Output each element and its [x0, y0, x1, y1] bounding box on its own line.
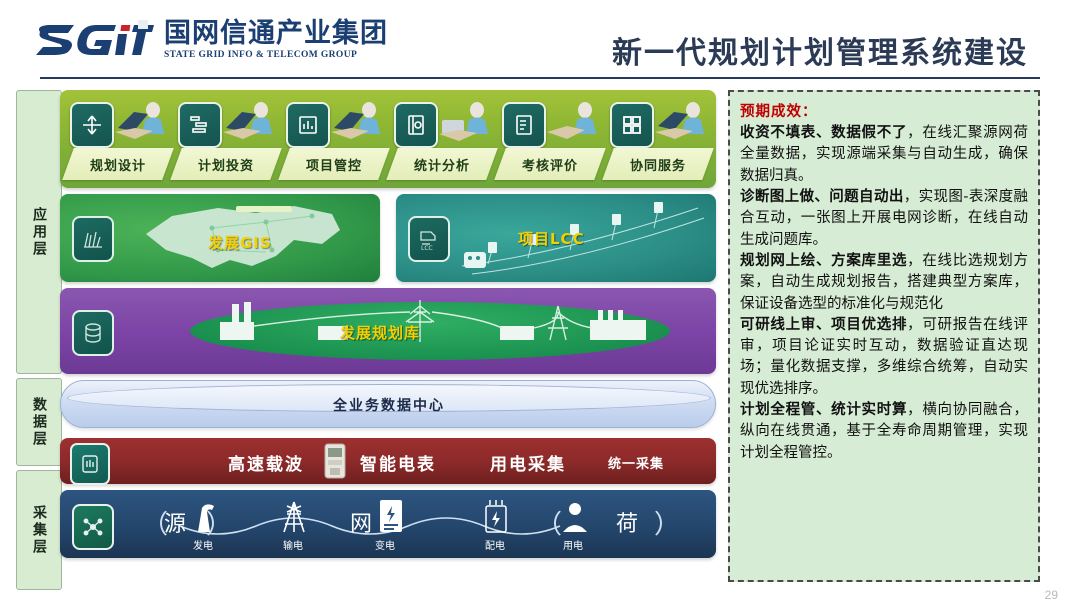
brand-text: 国网信通产业集团 STATE GRID INFO & TELECOM GROUP	[164, 20, 388, 60]
map-chart-icon	[72, 216, 114, 262]
power-chain-band[interactable]: （ 源 ） 发电 输电 网 变电	[60, 490, 716, 558]
header-divider	[40, 77, 1040, 79]
database-icon	[72, 310, 114, 356]
lcc-panel[interactable]: LCC 项目LCC	[396, 194, 716, 282]
bracket-close-2: ）	[654, 504, 680, 541]
panel-paragraph-bold: 可研线上审、项目优选排	[740, 317, 907, 333]
app-module-label-wrap: 统计分析	[386, 148, 498, 180]
person-computer-illustration	[652, 98, 710, 144]
brand-logo: 国网信通产业集团 STATE GRID INFO & TELECOM GROUP	[34, 20, 388, 60]
app-module-label-wrap: 项目管控	[278, 148, 390, 180]
chain-node-consumption[interactable]: 用电	[538, 498, 608, 552]
load-char: 荷	[616, 506, 638, 538]
app-module-label: 项目管控	[284, 148, 384, 180]
app-module-assessment[interactable]: 考核评价	[498, 98, 602, 182]
app-module-label-wrap: 规划设计	[62, 148, 174, 180]
brand-name-cn: 国网信通产业集团	[164, 20, 388, 48]
book-icon	[394, 102, 438, 148]
panel-paragraph: 收资不填表、数据假不了，在线汇聚源网荷全量数据，实现源端采集与自动生成，确保数据…	[740, 123, 1028, 187]
chain-node-transmission[interactable]: 输电	[258, 498, 328, 552]
app-module-planning-design[interactable]: 规划设计	[66, 98, 170, 182]
repository-title: 发展规划库	[340, 322, 420, 343]
person-computer-illustration	[436, 98, 494, 144]
chain-node-label: 输电	[258, 537, 328, 552]
brand-name-en: STATE GRID INFO & TELECOM GROUP	[164, 50, 388, 60]
gantt-chart-icon	[178, 102, 222, 148]
person-computer-illustration	[112, 98, 170, 144]
sidebar-layer-collection: 采集层	[16, 470, 62, 590]
expected-results-panel: 预期成效： 收资不填表、数据假不了，在线汇聚源网荷全量数据，实现源端采集与自动生…	[728, 90, 1040, 582]
architecture-diagram: 规划设计 计划投资	[60, 90, 716, 588]
chain-node-distribution[interactable]: 配电	[460, 498, 530, 552]
app-module-label: 协同服务	[608, 148, 708, 180]
app-module-label: 统计分析	[392, 148, 492, 180]
collection-item-label: 用电采集	[490, 450, 566, 475]
gis-panel[interactable]: 发展GIS	[60, 194, 380, 282]
smart-meter-illustration	[322, 442, 348, 480]
bar-chart-icon	[286, 102, 330, 148]
app-module-label: 计划投资	[176, 148, 276, 180]
person-computer-illustration	[328, 98, 386, 144]
app-module-label: 考核评价	[500, 148, 600, 180]
data-center-disc[interactable]: 全业务数据中心	[60, 380, 716, 428]
panel-paragraph: 可研线上审、项目优选排，可研报告在线评审，项目论证实时互动，数据验证直达现场；量…	[740, 315, 1028, 400]
data-center-label: 全业务数据中心	[61, 381, 717, 429]
chain-node-label: 用电	[538, 537, 608, 552]
app-module-plan-investment[interactable]: 计划投资	[174, 98, 278, 182]
network-node-icon	[70, 102, 114, 148]
lcc-icon: LCC	[408, 216, 450, 262]
chain-node-label: 配电	[460, 537, 530, 552]
collection-item-label: 统一采集	[608, 453, 664, 472]
page-title: 新一代规划计划管理系统建设	[612, 28, 1028, 72]
app-module-label: 规划设计	[68, 148, 168, 180]
panel-paragraph-bold: 诊断图上做、问题自动出	[740, 189, 904, 205]
collection-band[interactable]: 高速载波 智能电表 用电采集 统一采集	[60, 438, 716, 484]
lcc-title: 项目LCC	[518, 228, 585, 249]
page-number: 29	[1045, 588, 1058, 602]
chain-node-label: 变电	[350, 537, 420, 552]
panel-paragraph: 诊断图上做、问题自动出，实现图-表深度融合互动，一张图上开展电网诊断，在线自动生…	[740, 187, 1028, 251]
collection-item-label: 智能电表	[360, 450, 436, 475]
layer-sidebar: 应用层 数据层 采集层	[16, 90, 60, 588]
app-module-project-control[interactable]: 项目管控	[282, 98, 386, 182]
meter-icon	[70, 443, 110, 485]
person-computer-illustration	[220, 98, 278, 144]
sidebar-layer-label: 采集层	[29, 505, 49, 556]
grid-squares-icon	[610, 102, 654, 148]
document-pen-icon	[502, 102, 546, 148]
app-module-collab-service[interactable]: 协同服务	[606, 98, 710, 182]
sidebar-layer-application: 应用层	[16, 90, 62, 374]
chain-node-substation[interactable]: 变电	[350, 498, 420, 552]
collection-item-label: 高速载波	[228, 450, 304, 475]
repository-band[interactable]: 发展规划库	[60, 288, 716, 374]
application-band: 规划设计 计划投资	[60, 90, 716, 188]
app-module-label-wrap: 计划投资	[170, 148, 282, 180]
sidebar-layer-label: 应用层	[29, 207, 49, 258]
panel-paragraph-bold: 收资不填表、数据假不了	[740, 125, 907, 141]
panel-paragraph: 规划网上绘、方案库里选，在线比选规划方案，自动生成规划报告，搭建典型方案库，保证…	[740, 251, 1028, 315]
app-module-label-wrap: 考核评价	[494, 148, 606, 180]
panel-paragraph-bold: 规划网上绘、方案库里选	[740, 253, 907, 269]
panel-paragraph-bold: 计划全程管、统计实时算	[740, 402, 907, 418]
chain-node-label: 发电	[168, 537, 238, 552]
svg-text:LCC: LCC	[421, 245, 433, 252]
sgit-logo-icon	[34, 20, 154, 60]
chain-node-generation[interactable]: 发电	[168, 498, 238, 552]
gis-title: 发展GIS	[208, 232, 272, 253]
person-computer-illustration	[544, 98, 602, 144]
panel-heading: 预期成效：	[740, 100, 1028, 121]
sidebar-layer-data: 数据层	[16, 378, 62, 466]
app-module-label-wrap: 协同服务	[602, 148, 714, 180]
sidebar-layer-label: 数据层	[29, 397, 49, 448]
topology-icon	[72, 504, 114, 550]
app-module-statistics[interactable]: 统计分析	[390, 98, 494, 182]
panel-paragraph: 计划全程管、统计实时算，横向协同融合，纵向在线贯通，基于全寿命周期管理，实现计划…	[740, 400, 1028, 464]
slide-header: 国网信通产业集团 STATE GRID INFO & TELECOM GROUP…	[0, 0, 1080, 80]
